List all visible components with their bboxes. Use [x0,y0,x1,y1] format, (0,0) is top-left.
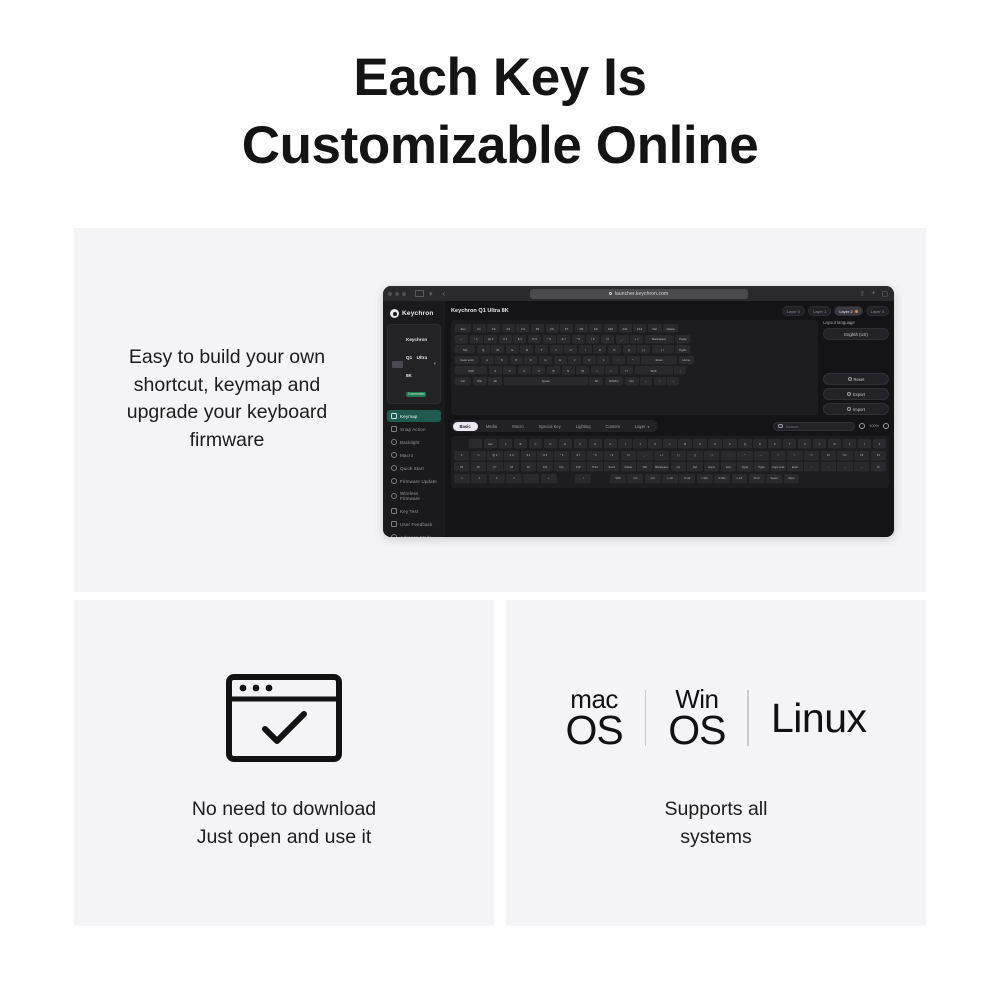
picker-key[interactable]: Y [858,439,871,449]
keyboard-key[interactable]: Backspace [645,335,674,344]
traffic-lights-icon[interactable] [388,292,406,296]
keyboard-key[interactable]: F11 [619,324,632,333]
keyboard-key[interactable]: Ctrl [625,377,639,386]
browser-window-mock: ▾ ‹ launcher.keychron.com ⇧ + ▢ Keychron [383,286,894,537]
keyboard-key[interactable]: @ 2 [484,335,497,344]
picker-key[interactable]: ) 0 [621,451,636,461]
keyboard-key[interactable]: Alt [589,377,603,386]
device-thumbnail-icon [392,361,403,368]
keyboard-key[interactable]: S [495,356,508,365]
keyboard-key[interactable]: Win [473,377,487,386]
picker-key[interactable]: H [604,439,617,449]
key-test-icon [391,508,397,514]
keyboard-key[interactable]: Home [679,356,694,365]
keyboard-key[interactable]: Shift [635,366,673,375]
launcher-app: Keychron Keychron Q1 Ultra 8K Connected … [383,301,894,537]
picker-key[interactable]: L [663,439,676,449]
keyboard-key[interactable]: PgDn [675,345,690,354]
keyboard-key[interactable]: : ; [612,356,625,365]
picker-key[interactable]: > . [787,451,802,461]
sidebar-item-firmware-update[interactable]: Firmware Update [387,475,441,487]
keyboard-key[interactable]: U [564,345,577,354]
picker-key[interactable]: M [678,439,691,449]
keyboard-key[interactable]: F3 [502,324,515,333]
sidebar-item-wireless-firmware[interactable]: Wireless Firmware [387,488,441,504]
main-title: Keychron Q1 Ultra 8K [451,308,509,314]
layer-tab-1[interactable]: Layer 1 [808,306,831,316]
tab-basic[interactable]: Basic [453,422,478,431]
keyboard-key[interactable]: F12 [633,324,646,333]
device-meta: Keychron Q1 Ultra 8K Connected [406,328,430,400]
picker-key[interactable]: B [514,439,527,449]
picker-key[interactable]: F5 [454,462,469,472]
picker-key[interactable]: F9 [521,462,536,472]
picker-key[interactable]: F4 [871,451,886,461]
chevron-down-icon[interactable]: ▾ [433,361,436,367]
picker-key[interactable]: 2 [471,474,487,484]
picker-key[interactable]: R-Ctl [749,474,765,484]
sidebar-item-label: Key Test [400,509,418,514]
picker-key[interactable]: F11 [554,462,569,472]
picker-key[interactable]: Pause [621,462,636,472]
firmware-update-icon [391,478,397,484]
picker-toolbar: Basic Media Macro Special Key Lighting C… [451,420,889,432]
keyboard-key[interactable]: E [506,345,519,354]
picker-key[interactable]: Home [704,462,719,472]
keyboard-key[interactable]: # 3 [499,335,512,344]
keyboard-layout[interactable]: EscF1F2F3F4F5F6F7F8F9F10F11F12DelDelete~… [451,320,818,415]
brand-logo: Keychron [387,307,441,324]
picker-key[interactable]: % 5 [537,451,552,461]
picker-key[interactable]: Fn [871,462,886,472]
sidebar-item-label: Snap Action [400,427,426,432]
picker-key[interactable]: Ctrl [627,474,643,484]
picker-key[interactable]: R-Alt [679,474,695,484]
sidebar-toggle-icon[interactable] [415,290,424,297]
picker-key[interactable]: ! 1 [471,451,486,461]
keyboard-key[interactable]: ? / [620,366,633,375]
picker-key[interactable]: / [575,474,591,484]
keyboard-row: EscF1F2F3F4F5F6F7F8F9F10F11F12DelDelete [455,324,814,333]
keyboard-key[interactable]: K [583,356,596,365]
keyboard-key[interactable]: Esc [455,324,471,333]
picker-key[interactable]: F2 [837,451,852,461]
picker-key[interactable]: Scroll [604,462,619,472]
picker-row: 1234.+/ShiftCtrlCtrlL-AltR-AltL-WinR-Win… [454,474,886,484]
keyboard-key[interactable]: Z [489,366,502,375]
picker-key[interactable]: A [499,439,512,449]
key-picker-section: Basic Media Macro Special Key Lighting C… [451,420,889,488]
keyboard-key[interactable]: * 8 [572,335,585,344]
picker-key[interactable]: + = [654,451,669,461]
picker-key[interactable]: Ins [671,462,686,472]
browser-chrome: ▾ ‹ launcher.keychron.com ⇧ + ▢ [383,286,894,301]
picker-key[interactable]: # 3 [504,451,519,461]
picker-key[interactable]: ? / [804,451,819,461]
picker-key[interactable]: { [ [671,451,686,461]
picker-key[interactable]: ( 9 [604,451,619,461]
picker-key[interactable]: Z [873,439,886,449]
picker-key[interactable]: L-Ctl [732,474,748,484]
picker-key [801,474,817,484]
brand-name: Keychron [402,310,434,317]
picker-key[interactable]: ↓ [821,462,836,472]
tab-media[interactable]: Media [479,422,504,431]
keyboard-key[interactable]: Alt [488,377,502,386]
picker-key [558,474,574,484]
picker-key[interactable]: 3 [489,474,505,484]
page-title-line1: Each Key Is [353,48,646,107]
chevron-down-icon[interactable]: ▾ [429,290,433,298]
device-selector[interactable]: Keychron Q1 Ultra 8K Connected ▾ [387,324,441,404]
keyboard-key[interactable]: Shift [455,366,487,375]
keyboard-key[interactable]: W [491,345,504,354]
picker-row: 0! 1@ 2# 3$ 4% 5^ 6& 7* 8( 9) 0_ -+ ={ [… [454,451,886,461]
tab-macro[interactable]: Macro [505,422,531,431]
picker-key[interactable]: : ; [721,451,736,461]
keyboard-key[interactable]: " ' [627,356,640,365]
bottom-right-caption: Supports all systems [516,795,916,851]
zoom-level: 100% [869,424,879,428]
keyboard-key[interactable]: ) 0 [601,335,614,344]
top-card-blurb: Easy to build your own shortcut, keymap … [96,344,358,454]
export-button[interactable]: Export [823,388,889,400]
picker-key[interactable]: End [721,462,736,472]
picker-tabs: Basic Media Macro Special Key Lighting C… [451,420,658,432]
keyboard-key[interactable]: _ - [616,335,629,344]
keyboard-row: ~ `! 1@ 2# 3$ 4% 5^ 6& 7* 8( 9) 0_ -+ =B… [455,335,814,344]
bottom-left-caption-line1: No need to download [84,795,484,823]
reset-button[interactable]: Reset [823,373,889,385]
keyboard-key[interactable]: F10 [604,324,617,333]
advance-mode-icon [391,534,397,537]
picker-row: F5F6F7F8F9F10F11F12PrintScrollPauseTabBa… [454,462,886,472]
picker-key[interactable]: Esc [484,439,497,449]
picker-key[interactable]: 4 [506,474,522,484]
sidebar-item-user-feedback[interactable]: User Feedback [387,518,441,530]
picker-key[interactable]: T [783,439,796,449]
sidebar-item-label: Macro [400,453,413,458]
keyboard-key[interactable]: Caps Lock [455,356,479,365]
tab-lighting[interactable]: Lighting [569,422,598,431]
picker-key[interactable]: V [813,439,826,449]
picker-key[interactable]: X [843,439,856,449]
back-button-icon[interactable]: ‹ [443,289,446,298]
picker-key[interactable]: ~ ` [754,451,769,461]
keymap-icon [391,413,397,419]
plus-icon[interactable]: + [871,290,875,297]
address-bar[interactable]: launcher.keychron.com [530,289,748,299]
picker-key[interactable]: 1 [454,474,470,484]
picker-key[interactable]: J [633,439,646,449]
zoom-in-icon[interactable] [883,423,889,429]
keyboard-key[interactable]: Y [550,345,563,354]
picker-key[interactable]: Enter [787,462,802,472]
lock-icon [609,292,612,295]
picker-key[interactable]: < , [771,451,786,461]
tab-special-key[interactable]: Special Key [532,422,568,431]
keyboard-key[interactable]: + = [630,335,643,344]
keyboard-key[interactable]: ! 1 [470,335,483,344]
picker-key[interactable]: 0 [454,451,469,461]
keyboard-key[interactable]: F2 [487,324,500,333]
keyboard-key[interactable]: D [510,356,523,365]
keyboard-key[interactable]: ~ ` [455,335,468,344]
picker-key[interactable]: F [574,439,587,449]
export-icon [847,392,851,396]
picker-key[interactable]: PgDn [754,462,769,472]
keyboard-key[interactable]: Delete [663,324,678,333]
keyboard-key[interactable]: F1 [473,324,486,333]
divider [645,690,647,746]
device-status-badge: Connected [406,392,426,397]
picker-key[interactable]: & 7 [571,451,586,461]
picker-key[interactable]: Print [587,462,602,472]
layout-language-label: Layout language [823,320,889,325]
sidebar-item-label: Keymap [400,414,417,419]
sidebar-item-label: User Feedback [400,522,432,527]
sidebar-item-macro[interactable]: Macro [387,449,441,461]
keyboard-key[interactable]: Ctrl [455,377,471,386]
picker-key[interactable]: I [618,439,631,449]
picker-key[interactable]: W [828,439,841,449]
picker-key[interactable]: R-Win [714,474,730,484]
picker-key[interactable]: Ctrl [645,474,661,484]
keyboard-key[interactable]: ( 9 [586,335,599,344]
layout-language-select[interactable]: English (US) [823,328,889,340]
keyboard-key[interactable]: F7 [560,324,573,333]
sidebar-item-snap-action[interactable]: Snap Action [387,423,441,435]
keyboard-key[interactable]: WIN/Fn [605,377,623,386]
tab-layer[interactable]: Layer▾ [628,422,656,431]
keyboard-key[interactable]: N [562,366,575,375]
picker-key[interactable]: PgUp [737,462,752,472]
picker-key[interactable]: F12 [571,462,586,472]
keyboard-key[interactable]: Del [648,324,662,333]
keyboard-key[interactable]: I [579,345,592,354]
tab-custom[interactable]: Custom [599,422,627,431]
picker-key[interactable]: } ] [687,451,702,461]
import-label: Import [853,407,865,412]
picker-key[interactable]: · [469,439,482,449]
snap-action-icon [391,426,397,432]
keyboard-row: Caps LockASDFGHJKL: ;" 'EnterHome [455,356,814,365]
keychron-logo-icon [390,309,399,318]
layer-tab-0[interactable]: Layer 0 [782,306,805,316]
picker-key[interactable]: Space [766,474,782,484]
keyboard-key[interactable]: > . [605,366,618,375]
picker-key[interactable]: @ 2 [487,451,502,461]
bottom-right-caption-line1: Supports all [516,795,916,823]
picker-key[interactable]: ← [837,462,852,472]
picker-key[interactable]: K [648,439,661,449]
keyboard-row: TabQWERTYUIOP{ [} ]| \PgDn [455,345,814,354]
picker-key[interactable]: E [559,439,572,449]
keyboard-key[interactable]: H [554,356,567,365]
keyboard-key[interactable]: F9 [589,324,602,333]
sidebar-item-key-test[interactable]: Key Test [387,505,441,517]
picker-key[interactable]: F6 [471,462,486,472]
picker-key [853,474,869,484]
keyboard-key[interactable]: Space [504,377,588,386]
picker-key[interactable]: L-Win [697,474,713,484]
picker-key[interactable]: F10 [537,462,552,472]
picker-key[interactable]: D [544,439,557,449]
keyboard-key[interactable]: % 5 [528,335,541,344]
keyboard-key[interactable]: { [ [623,345,636,354]
layer-tab-3[interactable]: Layer 3 [866,306,889,316]
keyboard-row: ShiftZXCVBNM< ,> .? /Shift↑ [455,366,814,375]
page-title-line2: Customizable Online [0,112,1000,180]
sidebar-item-label: Quick Start [400,466,424,471]
bottom-left-caption: No need to download Just open and use it [84,795,484,851]
sidebar-item-label: Advance Mode [400,535,432,538]
sidebar-item-label: Wireless Firmware [400,491,437,501]
picker-key[interactable]: G [589,439,602,449]
keyboard-key[interactable]: J [568,356,581,365]
sidebar-item-advance-mode[interactable]: Advance Mode [387,531,441,537]
keyboard-key[interactable]: & 7 [557,335,570,344]
picker-key [593,474,609,484]
keyboard-key[interactable]: F4 [516,324,529,333]
keyboard-key[interactable]: } ] [637,345,650,354]
keyboard-key[interactable]: O [593,345,606,354]
picker-key[interactable]: Menu [784,474,800,484]
search-field[interactable]: Search [773,422,855,431]
reset-icon [848,377,852,381]
zoom-out-icon[interactable] [859,423,865,429]
keyboard-key[interactable]: ← [640,377,652,386]
picker-key[interactable]: F7 [487,462,502,472]
browser-window-check-icon [224,672,344,764]
picker-key[interactable]: $ 4 [521,451,536,461]
sidebar-item-backlight[interactable]: Backlight [387,436,441,448]
backlight-icon [391,439,397,445]
picker-key[interactable]: * 8 [587,451,602,461]
picker-key[interactable]: Caps Lock [771,462,786,472]
layer-tab-label: Layer 1 [813,309,826,314]
keyboard-key[interactable]: T [535,345,548,354]
keyboard-key[interactable]: Q [477,345,490,354]
picker-key[interactable]: Del [687,462,702,472]
keyboard-key[interactable]: P [608,345,621,354]
tabs-icon[interactable]: ▢ [881,290,888,298]
reset-label: Reset [854,377,865,382]
picker-key[interactable]: F3 [854,451,869,461]
search-placeholder: Search [786,424,799,429]
picker-key[interactable]: " ' [737,451,752,461]
sidebar-item-keymap[interactable]: Keymap [387,410,441,422]
picker-key[interactable]: + [541,474,557,484]
search-icon [778,424,783,429]
keyboard-key[interactable]: G [539,356,552,365]
sidebar-item-label: Firmware Update [400,479,437,484]
keyboard-key[interactable]: A [481,356,494,365]
panel-actions: Reset Export Import [823,373,889,415]
keyboard-key[interactable]: F [524,356,537,365]
layer-tab-label: Layer 0 [787,309,800,314]
picker-key[interactable]: C [529,439,542,449]
keyboard-key[interactable]: L [597,356,610,365]
keyboard-key[interactable]: ↓ [654,377,666,386]
page-title: Each Key Is Customizable Online [0,44,1000,180]
layer-tab-label: Layer 2 [839,309,852,314]
chevron-down-icon: ▾ [647,425,649,429]
picker-key [454,439,467,449]
keyboard-key[interactable]: V [532,366,545,375]
keyboard-and-panel: EscF1F2F3F4F5F6F7F8F9F10F11F12DelDelete~… [451,320,889,415]
keyboard-key[interactable]: → [667,377,679,386]
picker-key[interactable]: ^ 6 [554,451,569,461]
picker-key[interactable]: U [798,439,811,449]
picker-tools: Search 100% [773,422,889,431]
picker-key[interactable]: F1 [821,451,836,461]
chrome-right-controls[interactable]: ⇧ + ▢ [859,290,888,298]
address-bar-url: launcher.keychron.com [615,291,669,297]
picker-key[interactable]: . [523,474,539,484]
keyboard-key[interactable]: R [520,345,533,354]
picker-key[interactable]: F8 [504,462,519,472]
layer-tabs: Layer 0 Layer 1 Layer 2 Layer 3 [782,306,889,316]
quick-start-icon [391,465,397,471]
picker-key[interactable]: P [723,439,736,449]
picker-key[interactable]: Q [738,439,751,449]
picker-key[interactable]: S [768,439,781,449]
keyboard-key[interactable]: F6 [546,324,559,333]
keyboard-key[interactable]: X [503,366,516,375]
sidebar-item-quick-start[interactable]: Quick Start [387,462,441,474]
import-button[interactable]: Import [823,403,889,415]
keyboard-key[interactable]: PgUp [675,335,690,344]
layer-tab-2[interactable]: Layer 2 [834,306,862,316]
sidebar-nav: Keymap Snap Action Backlight Macro [387,410,441,537]
picker-key[interactable]: N [693,439,706,449]
keyboard-key[interactable]: F8 [575,324,588,333]
keyboard-key[interactable]: < , [591,366,604,375]
picker-key[interactable]: Backspace [654,462,669,472]
keyboard-key[interactable]: Enter [641,356,677,365]
picker-key[interactable]: → [854,462,869,472]
sidebar-item-label: Backlight [400,440,420,445]
keyboard-key[interactable]: B [547,366,560,375]
keyboard-key[interactable]: F5 [531,324,544,333]
export-label: Export [853,392,865,397]
keyboard-key[interactable]: Tab [455,345,475,354]
picker-key[interactable]: R [753,439,766,449]
winos-logo: Win OS [668,686,725,751]
divider [747,690,749,746]
picker-key[interactable]: ↑ [804,462,819,472]
macos-logo: mac OS [565,686,622,751]
keyboard-key[interactable]: C [518,366,531,375]
user-feedback-icon [391,521,397,527]
keyboard-key[interactable]: | \ [652,345,674,354]
keyboard-key[interactable]: $ 4 [513,335,526,344]
picker-key[interactable]: L-Alt [662,474,678,484]
picker-key[interactable]: | \ [704,451,719,461]
share-icon[interactable]: ⇧ [859,290,865,298]
key-picker-grid[interactable]: ·EscABCDEFGHIJKLMNOPQRSTUVWXYZ0! 1@ 2# 3… [451,436,889,488]
picker-key[interactable]: O [708,439,721,449]
picker-key[interactable]: _ - [637,451,652,461]
picker-key[interactable]: Shift [610,474,626,484]
keyboard-key[interactable]: ↑ [674,366,686,375]
picker-key[interactable]: Tab [637,462,652,472]
keyboard-key[interactable]: M [576,366,589,375]
layer-tab-label: Layer 3 [871,309,884,314]
linux-logo: Linux [771,695,867,742]
keyboard-key[interactable]: ^ 6 [543,335,556,344]
